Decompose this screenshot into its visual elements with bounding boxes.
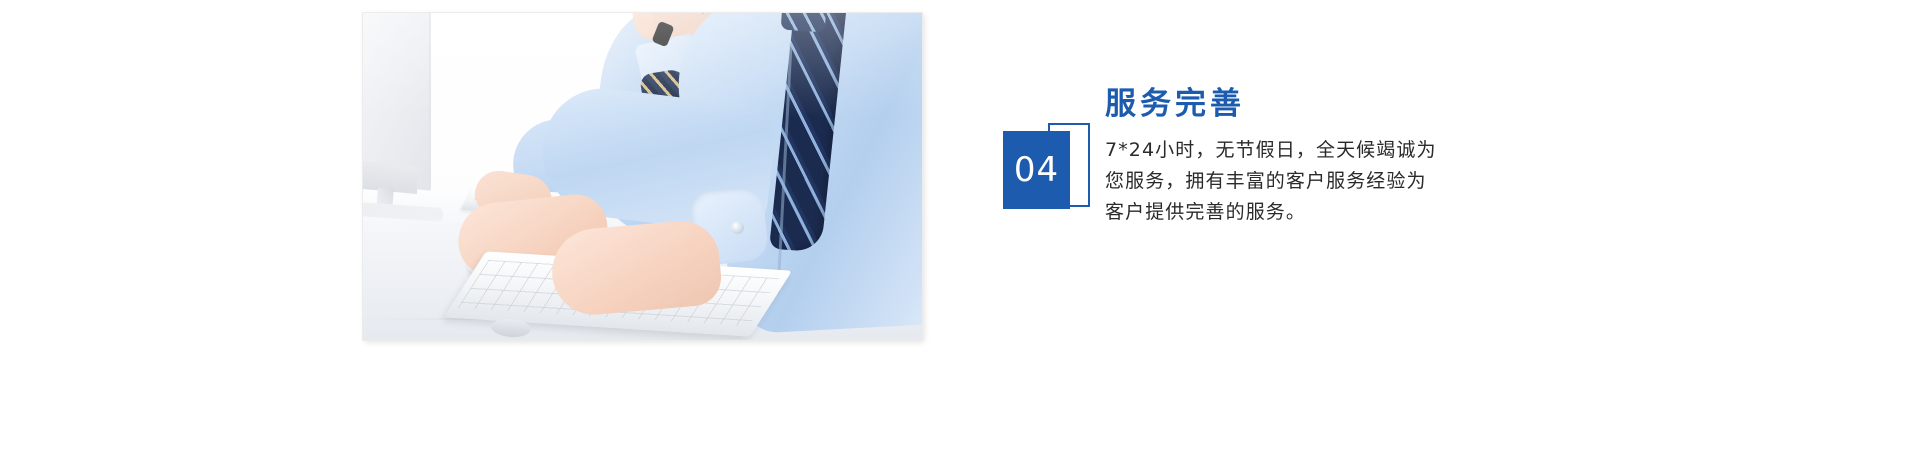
feature-description-line: 客户提供完善的服务。 <box>1105 197 1505 228</box>
feature-content: 04 服务完善 7*24小时，无节假日，全天候竭诚为 您服务，拥有丰富的客户服务… <box>1003 86 1523 286</box>
cuff-button-shape <box>731 221 744 234</box>
agent-front-right-hand-shape <box>549 218 724 318</box>
feature-description-line: 您服务，拥有丰富的客户服务经验为 <box>1105 166 1505 197</box>
feature-title: 服务完善 <box>1105 86 1505 123</box>
feature-description-line: 7*24小时，无节假日，全天候竭诚为 <box>1105 135 1505 166</box>
feature-photo-frame <box>363 13 922 340</box>
badge-filled-square: 04 <box>1003 131 1070 209</box>
customer-service-photo <box>363 13 922 340</box>
feature-banner: 04 服务完善 7*24小时，无节假日，全天候竭诚为 您服务，拥有丰富的客户服务… <box>0 0 1920 452</box>
feature-text-column: 服务完善 7*24小时，无节假日，全天候竭诚为 您服务，拥有丰富的客户服务经验为… <box>1105 86 1505 228</box>
necktie-knot-shape <box>781 13 828 32</box>
feature-description: 7*24小时，无节假日，全天候竭诚为 您服务，拥有丰富的客户服务经验为 客户提供… <box>1105 135 1505 228</box>
feature-number-badge: 04 <box>1003 123 1091 217</box>
badge-number-label: 04 <box>1014 153 1059 187</box>
